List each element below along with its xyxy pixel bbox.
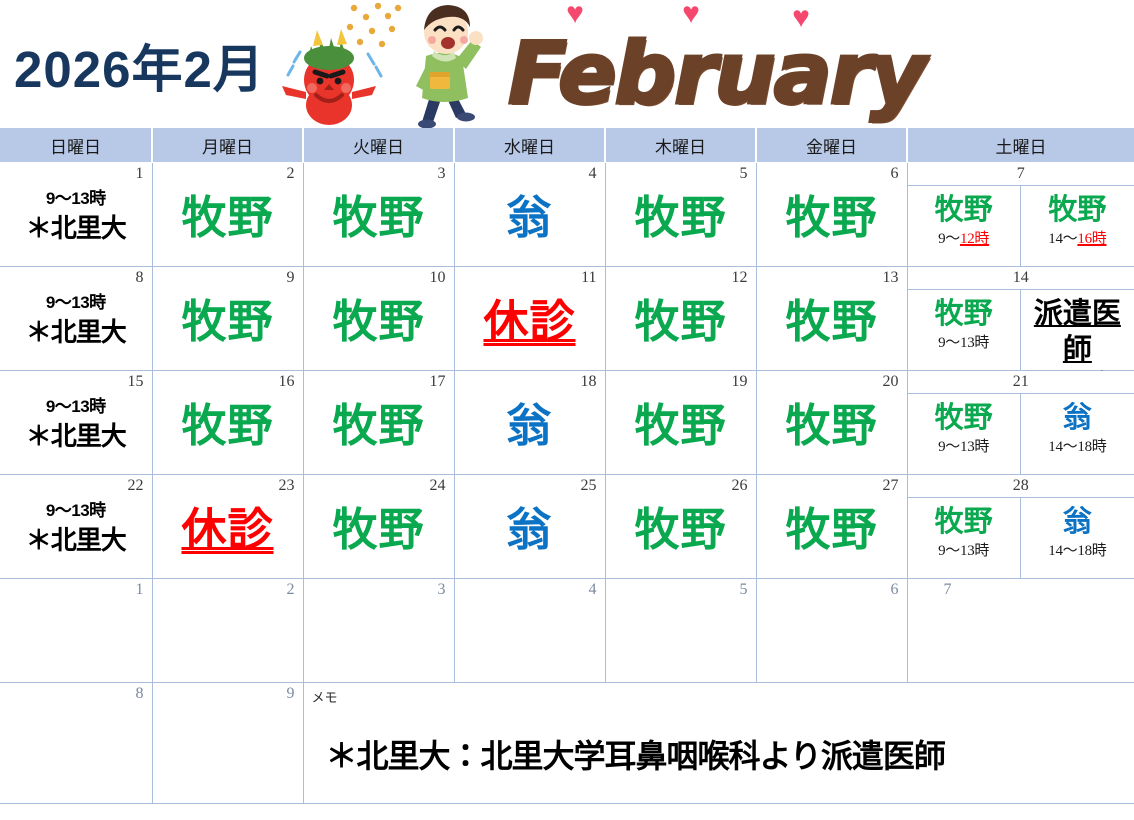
weekday-header-sun: 日曜日: [0, 128, 152, 163]
slot-time: 9〜13時: [908, 540, 1020, 562]
calendar-week-row: 15 9〜13時 ＊北里大 16 牧野 17 牧野 18 翁 19 牧野: [0, 371, 1134, 475]
day-cell-saturday[interactable]: 14 牧野 9〜13時 派遣医師 14〜18時: [907, 267, 1134, 371]
doctor-name: 翁: [455, 501, 605, 559]
sunday-time: 9〜13時: [0, 395, 152, 419]
day-number: 2: [287, 581, 295, 599]
sunday-schedule: 9〜13時 ＊北里大: [0, 395, 152, 453]
day-cell[interactable]: 6 牧野: [756, 163, 907, 267]
day-cell[interactable]: 25 翁: [454, 475, 605, 579]
day-cell[interactable]: 2 牧野: [152, 163, 303, 267]
weekday-header-tue: 火曜日: [303, 128, 454, 163]
day-number: 2: [287, 165, 295, 183]
day-cell[interactable]: 20 牧野: [756, 371, 907, 475]
doctor-name: 牧野: [304, 501, 454, 559]
february-wordmark: ♥ ♥ ♥ February: [500, 2, 920, 128]
sunday-schedule: 9〜13時 ＊北里大: [0, 187, 152, 245]
calendar-body: 1 9〜13時 ＊北里大 2 牧野 3 牧野 4 翁 5 牧野: [0, 163, 1134, 804]
day-cell[interactable]: 16 牧野: [152, 371, 303, 475]
day-cell[interactable]: 11 休診: [454, 267, 605, 371]
doctor-name: 牧野: [153, 293, 303, 351]
slot-time-prefix: 9〜13時: [938, 439, 989, 455]
day-cell-next-month[interactable]: 2: [152, 579, 303, 683]
saturday-split: 牧野 9〜12時 牧野 14〜16時: [908, 185, 1134, 266]
weekday-header-mon: 月曜日: [152, 128, 303, 163]
day-cell[interactable]: 24 牧野: [303, 475, 454, 579]
saturday-afternoon-slot[interactable]: 翁 14〜18時: [1021, 498, 1134, 578]
day-cell[interactable]: 17 牧野: [303, 371, 454, 475]
day-cell-sunday[interactable]: 15 9〜13時 ＊北里大: [0, 371, 152, 475]
day-number: 6: [891, 165, 899, 183]
slot-time-prefix: 14〜: [1048, 231, 1077, 247]
day-number: 25: [581, 477, 597, 495]
weekday-header-thu: 木曜日: [605, 128, 756, 163]
day-cell[interactable]: 23 休診: [152, 475, 303, 579]
doctor-name: 牧野: [153, 189, 303, 247]
doctor-name: 牧野: [908, 192, 1020, 228]
day-number: 28: [908, 477, 1134, 495]
day-number: 7: [944, 581, 952, 599]
saturday-morning-slot[interactable]: 牧野 9〜13時: [908, 498, 1021, 578]
day-number: 23: [279, 477, 295, 495]
day-cell-next-month[interactable]: 7: [907, 579, 1134, 683]
weekday-header-wed: 水曜日: [454, 128, 605, 163]
memo-label: メモ: [312, 687, 338, 706]
doctor-name: 翁: [1021, 400, 1134, 436]
day-cell-next-month[interactable]: 5: [605, 579, 756, 683]
day-cell[interactable]: 3 牧野: [303, 163, 454, 267]
doctor-name: 牧野: [153, 397, 303, 455]
sunday-time: 9〜13時: [0, 499, 152, 523]
day-number: 5: [740, 581, 748, 599]
slot-time: 9〜12時: [908, 228, 1020, 250]
doctor-name: 牧野: [304, 189, 454, 247]
day-number: 27: [883, 477, 899, 495]
doctor-name: 牧野: [606, 189, 756, 247]
day-number: 19: [732, 373, 748, 391]
day-cell-sunday[interactable]: 22 9〜13時 ＊北里大: [0, 475, 152, 579]
day-number: 21: [908, 373, 1134, 391]
doctor-name: 牧野: [908, 504, 1020, 540]
day-number: 16: [279, 373, 295, 391]
day-cell-saturday[interactable]: 21 牧野 9〜13時 翁 14〜18時: [907, 371, 1134, 475]
doctor-name: 牧野: [757, 397, 907, 455]
day-cell-sunday[interactable]: 1 9〜13時 ＊北里大: [0, 163, 152, 267]
doctor-name: 牧野: [757, 501, 907, 559]
closed-badge: 休診: [153, 501, 303, 559]
saturday-split: 牧野 9〜13時 翁 14〜18時: [908, 497, 1134, 578]
calendar-weekday-header: 日曜日 月曜日 火曜日 水曜日 木曜日 金曜日 土曜日: [0, 128, 1134, 163]
slot-time-prefix: 9〜13時: [938, 335, 989, 351]
memo-cell[interactable]: メモ ＊北里大：北里大学耳鼻咽喉科より派遣医師: [303, 683, 1134, 804]
slot-time: 9〜13時: [908, 332, 1020, 354]
day-cell[interactable]: 18 翁: [454, 371, 605, 475]
day-number: 26: [732, 477, 748, 495]
saturday-split: 牧野 9〜13時 翁 14〜18時: [908, 393, 1134, 474]
weekday-header-sat: 土曜日: [907, 128, 1134, 163]
doctor-name: 牧野: [757, 189, 907, 247]
doctor-name: 牧野: [304, 397, 454, 455]
day-number: 13: [883, 269, 899, 287]
day-cell-sunday[interactable]: 8 9〜13時 ＊北里大: [0, 267, 152, 371]
doctor-name: 牧野: [908, 296, 1020, 332]
day-number: 4: [589, 581, 597, 599]
doctor-name: 派遣医師: [1021, 296, 1134, 368]
day-number: 10: [430, 269, 446, 287]
saturday-afternoon-slot[interactable]: 牧野 14〜16時: [1021, 186, 1134, 266]
day-cell[interactable]: 19 牧野: [605, 371, 756, 475]
day-number: 12: [732, 269, 748, 287]
day-number: 15: [128, 373, 144, 391]
sunday-label: ＊北里大: [0, 419, 152, 453]
day-cell-next-month[interactable]: 3: [303, 579, 454, 683]
february-text: February: [508, 24, 924, 124]
heart-icon: ♥: [678, 2, 704, 26]
day-cell-next-month[interactable]: 6: [756, 579, 907, 683]
saturday-afternoon-slot[interactable]: 翁 14〜18時: [1021, 394, 1134, 474]
sunday-time: 9〜13時: [0, 291, 152, 315]
slot-time-prefix: 9〜: [938, 231, 960, 247]
day-cell[interactable]: 5 牧野: [605, 163, 756, 267]
slot-time-prefix: 14〜18時: [1048, 439, 1106, 455]
slot-time: 9〜13時: [908, 436, 1020, 458]
saturday-morning-slot[interactable]: 牧野 9〜13時: [908, 290, 1021, 370]
day-cell-next-month[interactable]: 4: [454, 579, 605, 683]
doctor-name: 牧野: [606, 293, 756, 351]
day-number: 3: [438, 581, 446, 599]
slot-time: 14〜18時: [1021, 436, 1134, 458]
slot-time-highlight: 12時: [960, 231, 989, 247]
day-cell[interactable]: 13 牧野: [756, 267, 907, 371]
day-cell[interactable]: 4 翁: [454, 163, 605, 267]
doctor-name: 翁: [455, 189, 605, 247]
sunday-label: ＊北里大: [0, 211, 152, 245]
day-number: 7: [908, 165, 1134, 183]
day-cell-next-month[interactable]: 8: [0, 683, 152, 804]
calendar-week-row-trailing: 1 2 3 4 5 6 7: [0, 579, 1134, 683]
day-number: 6: [891, 581, 899, 599]
sunday-time: 9〜13時: [0, 187, 152, 211]
day-number: 20: [883, 373, 899, 391]
day-cell[interactable]: 27 牧野: [756, 475, 907, 579]
slot-time: 14〜16時: [1021, 228, 1134, 250]
saturday-morning-slot[interactable]: 牧野 9〜13時: [908, 394, 1021, 474]
doctor-name: 牧野: [304, 293, 454, 351]
doctor-name: 牧野: [606, 501, 756, 559]
day-cell[interactable]: 26 牧野: [605, 475, 756, 579]
day-number: 5: [740, 165, 748, 183]
day-number: 8: [136, 269, 144, 287]
day-cell-next-month[interactable]: 1: [0, 579, 152, 683]
day-number: 22: [128, 477, 144, 495]
page-title: 2026年2月: [14, 28, 265, 102]
day-cell-next-month[interactable]: 9: [152, 683, 303, 804]
day-number: 8: [136, 685, 144, 703]
calendar-header: 2026年2月: [0, 0, 1134, 128]
day-cell-saturday[interactable]: 28 牧野 9〜13時 翁 14〜18時: [907, 475, 1134, 579]
day-cell[interactable]: 12 牧野: [605, 267, 756, 371]
doctor-name: 牧野: [1021, 192, 1134, 228]
doctor-name: 牧野: [606, 397, 756, 455]
day-number: 9: [287, 269, 295, 287]
slot-time-prefix: 14〜18時: [1048, 543, 1106, 559]
day-number: 1: [136, 581, 144, 599]
slot-time-prefix: 9〜13時: [938, 543, 989, 559]
sunday-label: ＊北里大: [0, 523, 152, 557]
slot-time: 14〜18時: [1021, 540, 1134, 562]
weekday-header-fri: 金曜日: [756, 128, 907, 163]
day-cell[interactable]: 10 牧野: [303, 267, 454, 371]
calendar-week-row: 22 9〜13時 ＊北里大 23 休診 24 牧野 25 翁 26 牧野: [0, 475, 1134, 579]
day-number: 3: [438, 165, 446, 183]
day-number: 11: [581, 269, 596, 287]
doctor-name: 翁: [455, 397, 605, 455]
sunday-schedule: 9〜13時 ＊北里大: [0, 291, 152, 349]
doctor-name: 牧野: [757, 293, 907, 351]
day-number: 24: [430, 477, 446, 495]
sunday-schedule: 9〜13時 ＊北里大: [0, 499, 152, 557]
day-cell[interactable]: 9 牧野: [152, 267, 303, 371]
day-number: 18: [581, 373, 597, 391]
calendar-table: 日曜日 月曜日 火曜日 水曜日 木曜日 金曜日 土曜日 1 9〜13時 ＊北里大…: [0, 128, 1134, 804]
doctor-name: 牧野: [908, 400, 1020, 436]
closed-badge: 休診: [455, 293, 605, 351]
calendar-memo-row: 8 9 メモ ＊北里大：北里大学耳鼻咽喉科より派遣医師: [0, 683, 1134, 804]
heart-icon: ♥: [562, 2, 588, 26]
day-number: 4: [589, 165, 597, 183]
day-number: 9: [287, 685, 295, 703]
calendar-week-row: 1 9〜13時 ＊北里大 2 牧野 3 牧野 4 翁 5 牧野: [0, 163, 1134, 267]
saturday-split: 牧野 9〜13時 派遣医師 14〜18時: [908, 289, 1134, 370]
day-number: 14: [908, 269, 1134, 287]
day-cell-saturday[interactable]: 7 牧野 9〜12時 牧野 14〜16時: [907, 163, 1134, 267]
doctor-name: 翁: [1021, 504, 1134, 540]
setsubun-illustration: [280, 0, 500, 128]
saturday-morning-slot[interactable]: 牧野 9〜12時: [908, 186, 1021, 266]
day-number: 17: [430, 373, 446, 391]
sunday-label: ＊北里大: [0, 315, 152, 349]
saturday-afternoon-slot[interactable]: 派遣医師 14〜18時: [1021, 290, 1134, 370]
day-number: 1: [136, 165, 144, 183]
memo-text: ＊北里大：北里大学耳鼻咽喉科より派遣医師: [326, 731, 945, 777]
slot-time-highlight: 16時: [1077, 231, 1106, 247]
calendar-week-row: 8 9〜13時 ＊北里大 9 牧野 10 牧野 11 休診 12 牧野: [0, 267, 1134, 371]
